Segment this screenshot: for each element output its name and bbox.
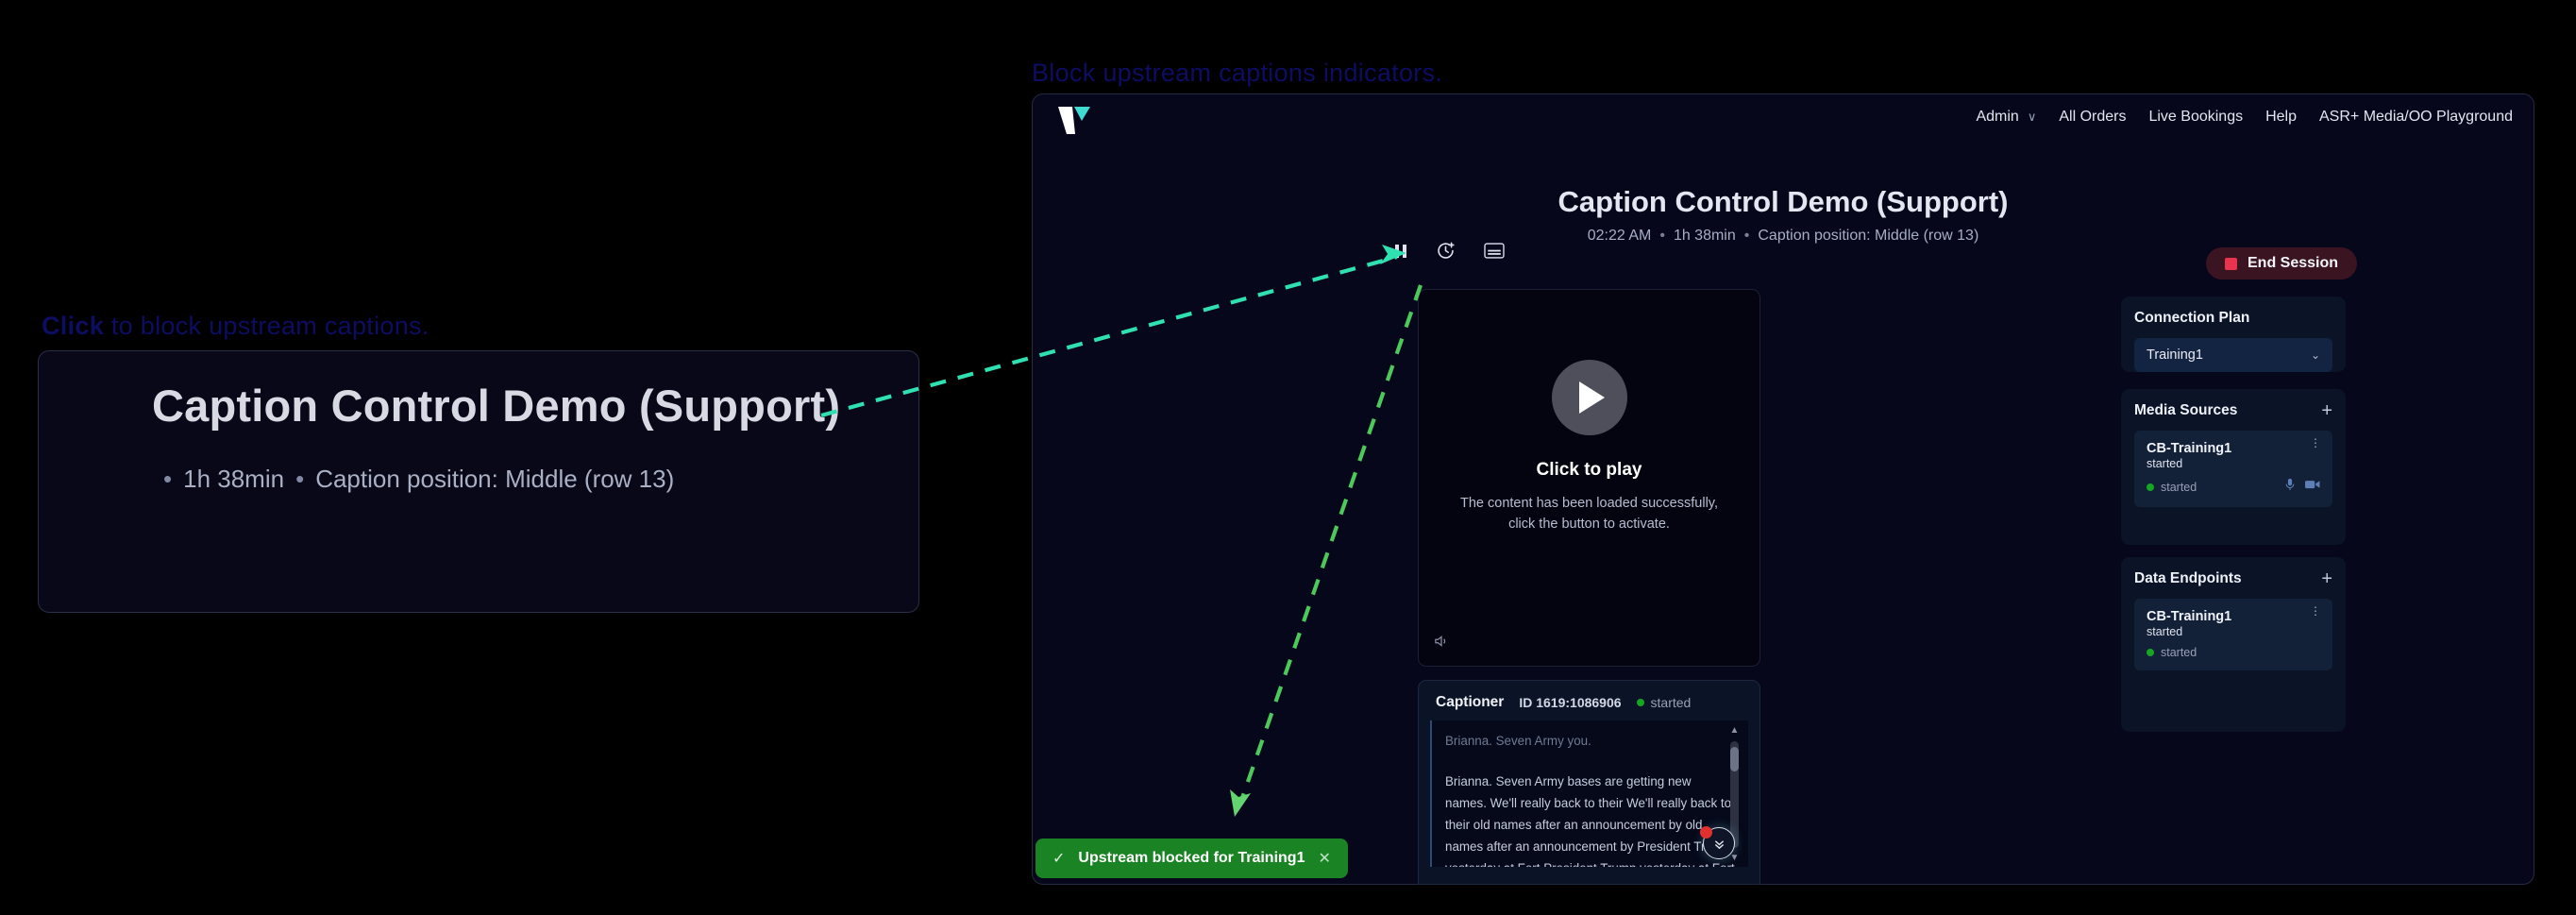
data-endpoint-name: CB-Training1	[2147, 609, 2320, 624]
add-data-endpoint-button[interactable]: +	[2321, 572, 2332, 585]
more-options-icon[interactable]: ⋮	[2310, 441, 2321, 445]
new-messages-badge	[1700, 826, 1712, 839]
add-media-source-button[interactable]: +	[2321, 404, 2332, 417]
close-icon[interactable]: ✕	[1318, 849, 1330, 868]
status-dot-icon	[1637, 699, 1644, 706]
chevron-down-icon: ⌄	[2311, 348, 2320, 362]
session-time: 02:22 AM	[1588, 228, 1652, 244]
end-session-button[interactable]: End Session	[2206, 247, 2357, 280]
nav-item-admin-label[interactable]: Admin	[1976, 109, 2018, 126]
data-endpoints-title: Data Endpoints	[2134, 570, 2242, 587]
scroll-up-arrow-icon[interactable]: ▲	[1730, 726, 1740, 736]
subtitle-sep-1: •	[1659, 228, 1665, 244]
transcript-line: Brianna. Seven Army you.	[1445, 730, 1735, 752]
media-sources-header: Media Sources +	[2134, 402, 2332, 419]
volume-icon[interactable]	[1434, 635, 1449, 652]
data-endpoint-status-label: started	[2161, 646, 2197, 659]
connection-plan-header: Connection Plan	[2134, 310, 2332, 327]
captioner-label: Captioner	[1436, 694, 1504, 711]
v-logo-icon[interactable]	[1056, 105, 1092, 137]
subtitle-separator-2: •	[295, 465, 304, 493]
data-endpoint-item[interactable]: ⋮ CB-Training1 started started	[2134, 599, 2332, 670]
media-source-row: started	[2147, 478, 2320, 496]
status-dot-icon	[2147, 483, 2154, 491]
captioner-transcript[interactable]: Brianna. Seven Army you. Brianna. Seven …	[1430, 720, 1748, 867]
media-source-sub: started	[2147, 457, 2320, 470]
player-controls	[1394, 241, 1505, 265]
clock-plus-icon[interactable]	[1436, 241, 1456, 265]
annotation-left: Click to block upstream captions.	[42, 312, 429, 341]
top-navigation-bar: Admin ∨ All Orders Live Bookings Help AS…	[1033, 94, 2534, 145]
toast-notification: ✓ Upstream blocked for Training1 ✕	[1035, 839, 1348, 878]
data-endpoint-sub: started	[2147, 625, 2320, 638]
magnified-caption-position: Caption position: Middle (row 13)	[315, 465, 674, 493]
page-subtitle: 02:22 AM•1h 38min•Caption position: Midd…	[1033, 228, 2534, 245]
magnified-title: Caption Control Demo (Support)	[152, 380, 840, 432]
video-description: The content has been loaded successfully…	[1419, 493, 1759, 535]
nav-item-all-orders[interactable]: All Orders	[2059, 109, 2126, 126]
status-dot-icon	[2147, 649, 2154, 656]
media-source-icons	[2284, 478, 2320, 496]
magnified-subtitle: •1h 38min•Caption position: Middle (row …	[152, 465, 674, 494]
connection-plan-card: Connection Plan Training1 ⌄	[2121, 297, 2346, 372]
subtitle-separator: •	[163, 465, 172, 493]
more-options-icon[interactable]: ⋮	[2310, 609, 2321, 613]
transcript-line: Brianna. Seven Army bases are getting ne…	[1445, 771, 1735, 867]
session-caption-position: Caption position: Middle (row 13)	[1758, 228, 1978, 244]
connection-plan-value: Training1	[2147, 347, 2203, 363]
annotation-left-rest: to block upstream captions.	[104, 312, 429, 340]
media-source-status-label: started	[2161, 481, 2197, 494]
scrollbar-thumb[interactable]	[1730, 747, 1739, 771]
session-duration: 1h 38min	[1674, 228, 1736, 244]
magnified-duration: 1h 38min	[183, 465, 284, 493]
captioner-status-label: started	[1651, 695, 1692, 710]
play-button[interactable]	[1552, 360, 1627, 435]
data-endpoint-row: started	[2147, 646, 2320, 659]
toast-message: Upstream blocked for Training1	[1078, 850, 1305, 867]
data-endpoints-header: Data Endpoints +	[2134, 570, 2332, 587]
nav-links: Admin ∨ All Orders Live Bookings Help AS…	[1976, 109, 2513, 126]
microphone-icon[interactable]	[2284, 478, 2296, 496]
captioner-header: Captioner ID 1619:1086906 started	[1419, 681, 1759, 720]
media-sources-title: Media Sources	[2134, 402, 2237, 419]
captioner-panel: Captioner ID 1619:1086906 started Briann…	[1418, 680, 1760, 885]
captioner-id: ID 1619:1086906	[1519, 695, 1621, 710]
video-placeholder: Click to play The content has been loade…	[1419, 360, 1759, 535]
chevron-down-icon: ∨	[2028, 110, 2037, 125]
media-source-status: started	[2147, 481, 2197, 494]
annotation-left-bold: Click	[42, 312, 104, 340]
video-camera-icon[interactable]	[2305, 478, 2320, 496]
nav-item-live-bookings[interactable]: Live Bookings	[2148, 109, 2243, 126]
subtitle-sep-2: •	[1744, 228, 1750, 244]
nav-item-asr-playground[interactable]: ASR+ Media/OO Playground	[2319, 109, 2513, 126]
data-endpoint-status: started	[2147, 646, 2197, 659]
scroll-down-arrow-icon[interactable]: ▼	[1730, 854, 1740, 863]
connection-plan-select[interactable]: Training1 ⌄	[2134, 338, 2332, 372]
end-session-label: End Session	[2248, 255, 2338, 272]
video-desc-line2: click the button to activate.	[1419, 514, 1759, 534]
stop-square-icon	[2225, 258, 2237, 270]
check-icon: ✓	[1052, 849, 1065, 868]
page-title: Caption Control Demo (Support)	[1033, 185, 2534, 219]
click-to-play-label: Click to play	[1419, 460, 1759, 481]
media-source-name: CB-Training1	[2147, 441, 2320, 456]
captioner-status: started	[1637, 695, 1692, 710]
annotation-right: Block upstream captions indicators.	[1032, 59, 1442, 88]
data-endpoints-card: Data Endpoints + ⋮ CB-Training1 started …	[2121, 557, 2346, 732]
nav-item-help[interactable]: Help	[2265, 109, 2297, 126]
video-desc-line1: The content has been loaded successfully…	[1419, 493, 1759, 514]
nav-item-admin[interactable]: Admin ∨	[1976, 109, 2036, 126]
pause-icon[interactable]	[1394, 244, 1407, 263]
connection-plan-title: Connection Plan	[2134, 310, 2249, 327]
media-source-item[interactable]: ⋮ CB-Training1 started started	[2134, 431, 2332, 507]
video-player[interactable]: Click to play The content has been loade…	[1418, 289, 1760, 667]
magnified-callout-panel: Caption Control Demo (Support) •1h 38min…	[38, 350, 919, 613]
media-sources-card: Media Sources + ⋮ CB-Training1 started s…	[2121, 389, 2346, 545]
caption-icon[interactable]	[1484, 243, 1505, 263]
